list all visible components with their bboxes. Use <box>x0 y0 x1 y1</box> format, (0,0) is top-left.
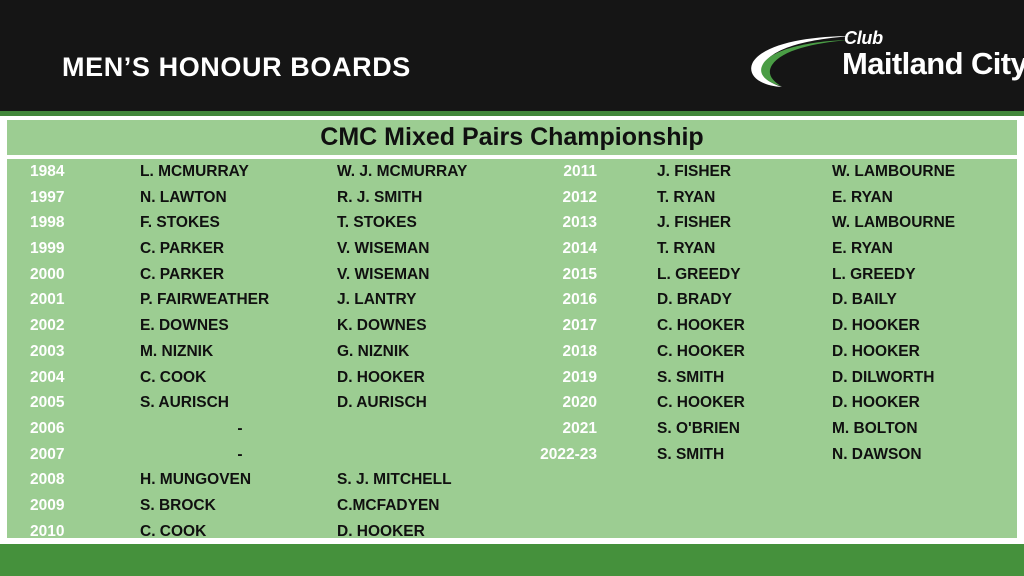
honour-row-player-2: D. HOOKER <box>832 390 1017 416</box>
honour-row: 2013J. FISHERW. LAMBOURNE <box>512 210 1017 236</box>
honour-row-year: 2013 <box>507 210 597 236</box>
honour-row-year: 1999 <box>30 236 125 262</box>
honour-row-player-2: W. LAMBOURNE <box>832 159 1017 185</box>
honour-row-player-1: N. LAWTON <box>140 185 340 211</box>
honour-row-player-2: W. J. MCMURRAY <box>337 159 512 185</box>
board-title: CMC Mixed Pairs Championship <box>7 120 1017 155</box>
slide-header: MEN’S HONOUR BOARDS Club Maitland City <box>0 0 1024 111</box>
honour-row: 2005S. AURISCHD. AURISCH <box>7 390 512 416</box>
honour-row-player-2: M. BOLTON <box>832 416 1017 442</box>
honour-row: 2018C. HOOKERD. HOOKER <box>512 339 1017 365</box>
honour-row-year: 2003 <box>30 339 125 365</box>
honour-row-player-2: D. HOOKER <box>337 365 512 391</box>
logo-maitland-city-text: Maitland City <box>842 46 1024 82</box>
honour-row-player-1: H. MUNGOVEN <box>140 467 340 493</box>
honour-row: 2007- <box>7 442 512 468</box>
honour-row: 2001P. FAIRWEATHERJ. LANTRY <box>7 287 512 313</box>
honour-row-player-2: C.MCFADYEN <box>337 493 512 519</box>
honour-row: 1999C. PARKERV. WISEMAN <box>7 236 512 262</box>
club-maitland-city-logo: Club Maitland City <box>748 28 976 90</box>
honour-row-year: 2014 <box>507 236 597 262</box>
honour-row-year: 2001 <box>30 287 125 313</box>
honour-row-player-1: J. FISHER <box>657 210 837 236</box>
slide: MEN’S HONOUR BOARDS Club Maitland City C… <box>0 0 1024 576</box>
honour-row: 2008H. MUNGOVENS. J. MITCHELL <box>7 467 512 493</box>
honour-row-year: 2017 <box>507 313 597 339</box>
honour-row-year: 2005 <box>30 390 125 416</box>
honour-row-player-1: C. PARKER <box>140 236 340 262</box>
honour-row-year: 2015 <box>507 262 597 288</box>
footer-accent-bar <box>0 544 1024 576</box>
honour-row-player-2: D. HOOKER <box>832 339 1017 365</box>
honour-row-player-1: D. BRADY <box>657 287 837 313</box>
honour-row: 2014T. RYANE. RYAN <box>512 236 1017 262</box>
honour-row-player-2: E. RYAN <box>832 236 1017 262</box>
honour-row-player-2: V. WISEMAN <box>337 262 512 288</box>
honour-row: 1998F. STOKEST. STOKES <box>7 210 512 236</box>
honour-row-year: 1997 <box>30 185 125 211</box>
honour-row-year: 2004 <box>30 365 125 391</box>
honour-row-year: 2019 <box>507 365 597 391</box>
honour-row-player-2: W. LAMBOURNE <box>832 210 1017 236</box>
honour-row: 1984L. MCMURRAYW. J. MCMURRAY <box>7 159 512 185</box>
honour-row-year: 2011 <box>507 159 597 185</box>
honour-row-player-2: G. NIZNIK <box>337 339 512 365</box>
honour-row-player-2: R. J. SMITH <box>337 185 512 211</box>
honour-row-year: 2018 <box>507 339 597 365</box>
honour-row-year: 2021 <box>507 416 597 442</box>
honour-row: 2012T. RYANE. RYAN <box>512 185 1017 211</box>
honour-row-year: 1984 <box>30 159 125 185</box>
page-title: MEN’S HONOUR BOARDS <box>62 52 411 83</box>
honour-row: 2020C. HOOKERD. HOOKER <box>512 390 1017 416</box>
honour-row-player-1: L. MCMURRAY <box>140 159 340 185</box>
honour-row-year: 2002 <box>30 313 125 339</box>
honour-row-player-1: C. HOOKER <box>657 390 837 416</box>
honour-row-player-2: J. LANTRY <box>337 287 512 313</box>
honour-row-year: 2009 <box>30 493 125 519</box>
honour-row: 2003M. NIZNIKG. NIZNIK <box>7 339 512 365</box>
honour-row-player-1: L. GREEDY <box>657 262 837 288</box>
honour-row: 2011J. FISHERW. LAMBOURNE <box>512 159 1017 185</box>
honour-row-player-2: D. DILWORTH <box>832 365 1017 391</box>
honour-row-player-1: C. HOOKER <box>657 339 837 365</box>
honour-row-player-2: D. AURISCH <box>337 390 512 416</box>
honour-row-player-1: S. SMITH <box>657 442 837 468</box>
honour-row-player-1: S. BROCK <box>140 493 340 519</box>
honour-row: 2015L. GREEDYL. GREEDY <box>512 262 1017 288</box>
honour-row: 2021S. O'BRIENM. BOLTON <box>512 416 1017 442</box>
honour-row-year: 2007 <box>30 442 125 468</box>
honour-row-player-2: T. STOKES <box>337 210 512 236</box>
honour-row-player-2: N. DAWSON <box>832 442 1017 468</box>
honour-row-player-1: C. COOK <box>140 365 340 391</box>
honour-row-year: 1998 <box>30 210 125 236</box>
honour-row-player-2: V. WISEMAN <box>337 236 512 262</box>
honour-row-player-2: E. RYAN <box>832 185 1017 211</box>
honour-row-year: 2000 <box>30 262 125 288</box>
honour-row-year: 2006 <box>30 416 125 442</box>
honour-row-player-1: S. O'BRIEN <box>657 416 837 442</box>
honour-row-vacant: - <box>140 416 340 442</box>
honour-row-year: 2020 <box>507 390 597 416</box>
honour-row-player-1: C. HOOKER <box>657 313 837 339</box>
honour-row-player-2: L. GREEDY <box>832 262 1017 288</box>
honour-row: 2016D. BRADYD. BAILY <box>512 287 1017 313</box>
honour-row: 2002E. DOWNESK. DOWNES <box>7 313 512 339</box>
honour-list-right: 2011J. FISHERW. LAMBOURNE2012T. RYANE. R… <box>512 159 1017 467</box>
honour-row-player-2: D. BAILY <box>832 287 1017 313</box>
honour-row-year: 2012 <box>507 185 597 211</box>
honour-row-player-1: P. FAIRWEATHER <box>140 287 340 313</box>
honour-row-year: 2016 <box>507 287 597 313</box>
honour-row: 2019S. SMITHD. DILWORTH <box>512 365 1017 391</box>
honour-row: 2004C. COOKD. HOOKER <box>7 365 512 391</box>
honour-row-player-2: K. DOWNES <box>337 313 512 339</box>
header-accent-rule <box>0 111 1024 116</box>
honour-row-player-1: T. RYAN <box>657 236 837 262</box>
honour-board-panel: CMC Mixed Pairs Championship 1984L. MCMU… <box>7 120 1017 538</box>
honour-row-player-2: D. HOOKER <box>832 313 1017 339</box>
honour-row-player-1: S. AURISCH <box>140 390 340 416</box>
honour-row-player-1: M. NIZNIK <box>140 339 340 365</box>
honour-row: 2000C. PARKERV. WISEMAN <box>7 262 512 288</box>
honour-row-player-1: F. STOKES <box>140 210 340 236</box>
honour-row: 2017C. HOOKERD. HOOKER <box>512 313 1017 339</box>
honour-row-vacant: - <box>140 442 340 468</box>
honour-row: 2022-23S. SMITHN. DAWSON <box>512 442 1017 468</box>
honour-row: 2006- <box>7 416 512 442</box>
honour-row-player-2: S. J. MITCHELL <box>337 467 512 493</box>
honour-row-year: 2008 <box>30 467 125 493</box>
honour-row-player-1: T. RYAN <box>657 185 837 211</box>
honour-row-year: 2022-23 <box>507 442 597 468</box>
honour-row: 2009S. BROCKC.MCFADYEN <box>7 493 512 519</box>
honour-list-left: 1984L. MCMURRAYW. J. MCMURRAY1997N. LAWT… <box>7 159 512 544</box>
honour-row-player-1: S. SMITH <box>657 365 837 391</box>
honour-row-player-1: J. FISHER <box>657 159 837 185</box>
honour-row-player-1: C. PARKER <box>140 262 340 288</box>
honour-row-player-1: E. DOWNES <box>140 313 340 339</box>
honour-row: 1997N. LAWTONR. J. SMITH <box>7 185 512 211</box>
